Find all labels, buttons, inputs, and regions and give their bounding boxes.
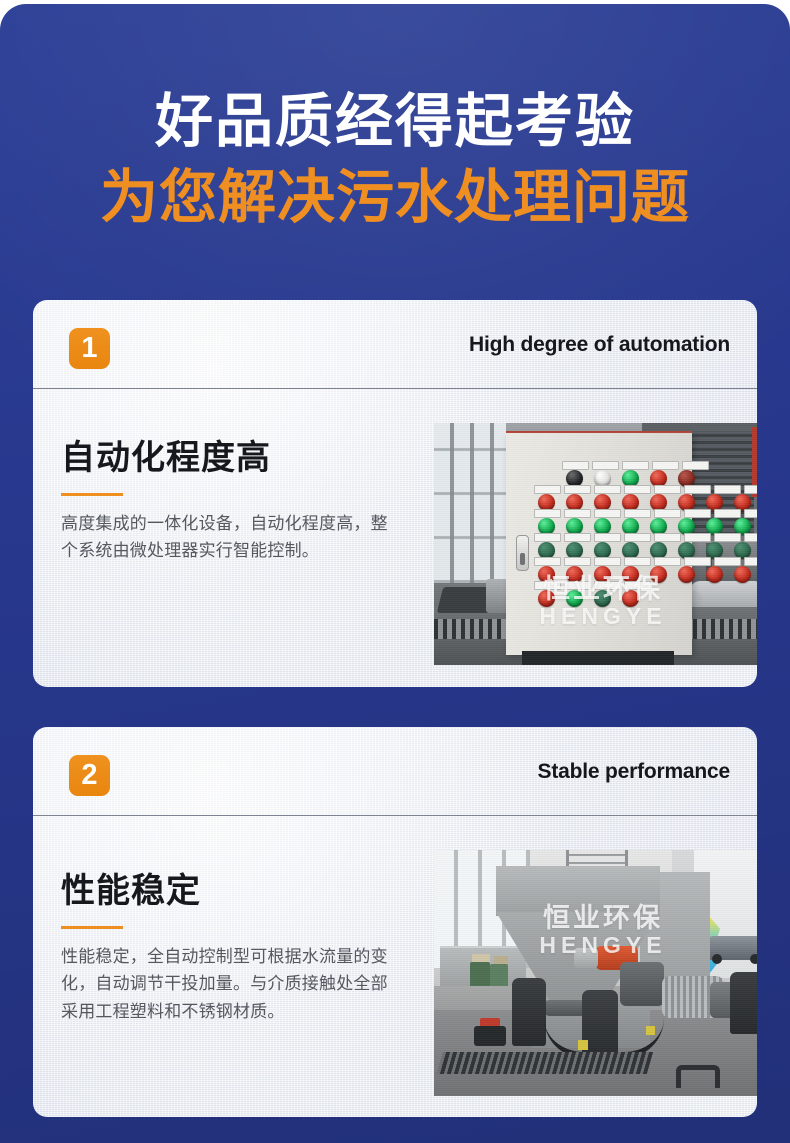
feature-text-column-2: 性能稳定 性能稳定，全自动控制型可根据水流量的变化，自动调节干投加量。与介质接触… (61, 873, 391, 1025)
photo-2-dosing-pump-3 (730, 972, 757, 1034)
feature-card-2-header: 2 Stable performance (33, 727, 757, 805)
feature-chinese-title-1: 自动化程度高 (61, 440, 391, 477)
feature-photo-2: 恒业环保 HENGYE (434, 850, 757, 1096)
photo-2-green-bin-1 (470, 962, 490, 988)
photo-1-lamp-red (650, 470, 667, 487)
photo-2-parked-car (704, 936, 757, 960)
photo-1-lamp-white (594, 470, 611, 487)
feature-description-1: 高度集成的一体化设备，自动化程度高，整个系统由微处理器实行智能控制。 (61, 496, 391, 565)
feature-card-2: 2 Stable performance 性能稳定 性能稳定，全自动控制型可根据… (33, 727, 757, 1117)
feature-english-title-1: High degree of automation (469, 333, 730, 357)
hero-line-primary: 好品质经得起考验 (0, 0, 790, 151)
feature-chinese-title-2: 性能稳定 (61, 873, 391, 910)
photo-1-cabinet-handle (516, 535, 529, 571)
feature-number-badge-2: 2 (69, 755, 110, 796)
feature-text-column-1: 自动化程度高 高度集成的一体化设备，自动化程度高，整个系统由微处理器实行智能控制… (61, 440, 391, 565)
photo-2-yellow-marker-2 (646, 1026, 655, 1035)
photo-2-dosing-pump-1 (512, 978, 546, 1046)
feature-number-badge-1: 1 (69, 328, 110, 369)
feature-card-1-header: 1 High degree of automation (33, 300, 757, 378)
product-feature-page: 好品质经得起考验 为您解决污水处理问题 1 High degree of aut… (0, 0, 790, 1143)
hero-heading: 好品质经得起考验 为您解决污水处理问题 (0, 0, 790, 227)
photo-2-green-bin-2 (490, 964, 508, 988)
photo-1-button-row-mixed (534, 589, 643, 607)
photo-2-hopper-top (496, 866, 660, 916)
feature-card-2-body: 性能稳定 性能稳定，全自动控制型可根据水流量的变化，自动调节干投加量。与介质接触… (33, 805, 757, 1117)
photo-1-selector-knob (566, 470, 583, 487)
feature-english-title-2: Stable performance (538, 760, 730, 784)
photo-2-lifting-handle (676, 1065, 720, 1088)
feature-photo-1: 恒业环保 HENGYE (434, 423, 757, 665)
photo-2-valve-body (474, 1026, 506, 1046)
photo-2-yellow-marker-1 (578, 1040, 588, 1050)
feature-card-1: 1 High degree of automation 自动化程度高 高度集成的… (33, 300, 757, 687)
hero-line-secondary: 为您解决污水处理问题 (0, 151, 790, 227)
photo-1-cabinet-base (522, 651, 674, 665)
photo-1-lamp-green (622, 470, 639, 487)
photo-1-window-mullions (434, 423, 506, 583)
feature-description-2: 性能稳定，全自动控制型可根据水流量的变化，自动调节干投加量。与介质接触处全部采用… (61, 929, 391, 1026)
photo-2-cable-tray (437, 1052, 653, 1074)
photo-1-emergency-stop (678, 470, 695, 487)
feature-card-1-body: 自动化程度高 高度集成的一体化设备，自动化程度高，整个系统由微处理器实行智能控制… (33, 378, 757, 687)
photo-2-gearbox (620, 962, 664, 1006)
